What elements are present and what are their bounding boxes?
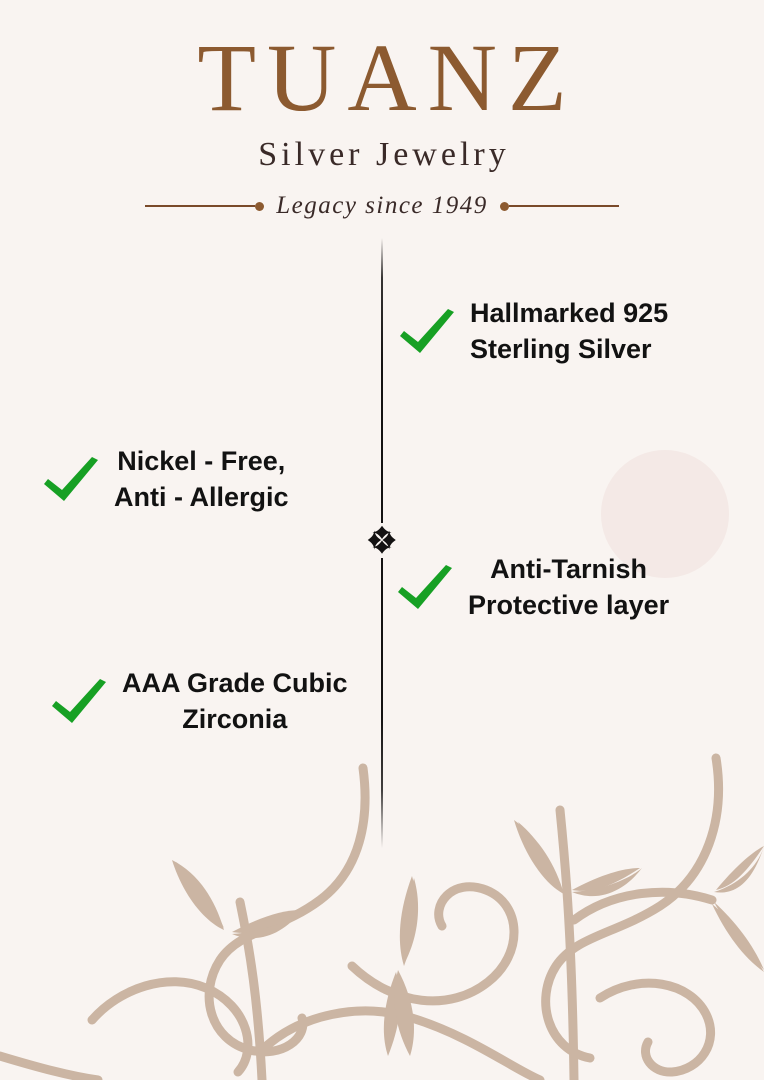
tagline-text: Legacy since 1949: [264, 192, 500, 220]
poster-root: TUANZ Silver Jewelry Legacy since 1949: [0, 0, 764, 1080]
feature-label: Nickel - Free, Anti - Allergic: [114, 444, 289, 515]
feature-label: Hallmarked 925 Sterling Silver: [470, 296, 668, 367]
quatrefoil-ornament-icon: [365, 523, 399, 557]
tagline-rule-right: [509, 205, 619, 207]
check-icon: [50, 676, 108, 728]
feature-item-anti-tarnish: Anti-Tarnish Protective layer: [396, 552, 669, 623]
check-icon: [42, 454, 100, 506]
check-icon: [396, 562, 454, 614]
feature-label: Anti-Tarnish Protective layer: [468, 552, 669, 623]
check-icon: [398, 306, 456, 358]
tagline-row: Legacy since 1949: [0, 192, 764, 220]
feature-label: AAA Grade Cubic Zirconia: [122, 666, 348, 737]
brand-subtitle: Silver Jewelry: [0, 126, 764, 172]
brand-header: TUANZ Silver Jewelry Legacy since 1949: [0, 0, 764, 220]
divider-line-upper: [381, 238, 383, 523]
feature-item-nickel-free: Nickel - Free, Anti - Allergic: [42, 444, 289, 515]
feature-item-aaa-grade-cubic-zirconia: AAA Grade Cubic Zirconia: [50, 666, 348, 737]
feature-item-hallmarked-925: Hallmarked 925 Sterling Silver: [398, 296, 668, 367]
tagline-dot-right: [500, 202, 509, 211]
tagline-dot-left: [255, 202, 264, 211]
brand-name: TUANZ: [0, 0, 764, 126]
divider-line-lower: [381, 558, 383, 848]
tagline-rule-left: [145, 205, 255, 207]
